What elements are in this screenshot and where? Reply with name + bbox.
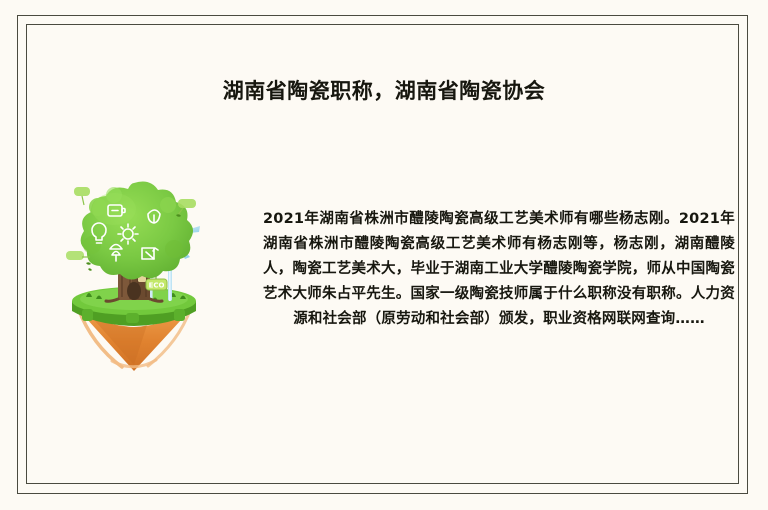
eco-floating-island-illustration: ECO <box>52 175 217 375</box>
svg-text:ECO: ECO <box>149 282 165 290</box>
article-body-text: 2021年湖南省株洲市醴陵陶瓷高级工艺美术师有哪些杨志刚。2021年湖南省株洲市… <box>263 207 735 332</box>
page-title: 湖南省陶瓷职称，湖南省陶瓷协会 <box>0 78 768 105</box>
content-area: ECO <box>0 175 768 415</box>
tree-canopy <box>81 182 193 280</box>
